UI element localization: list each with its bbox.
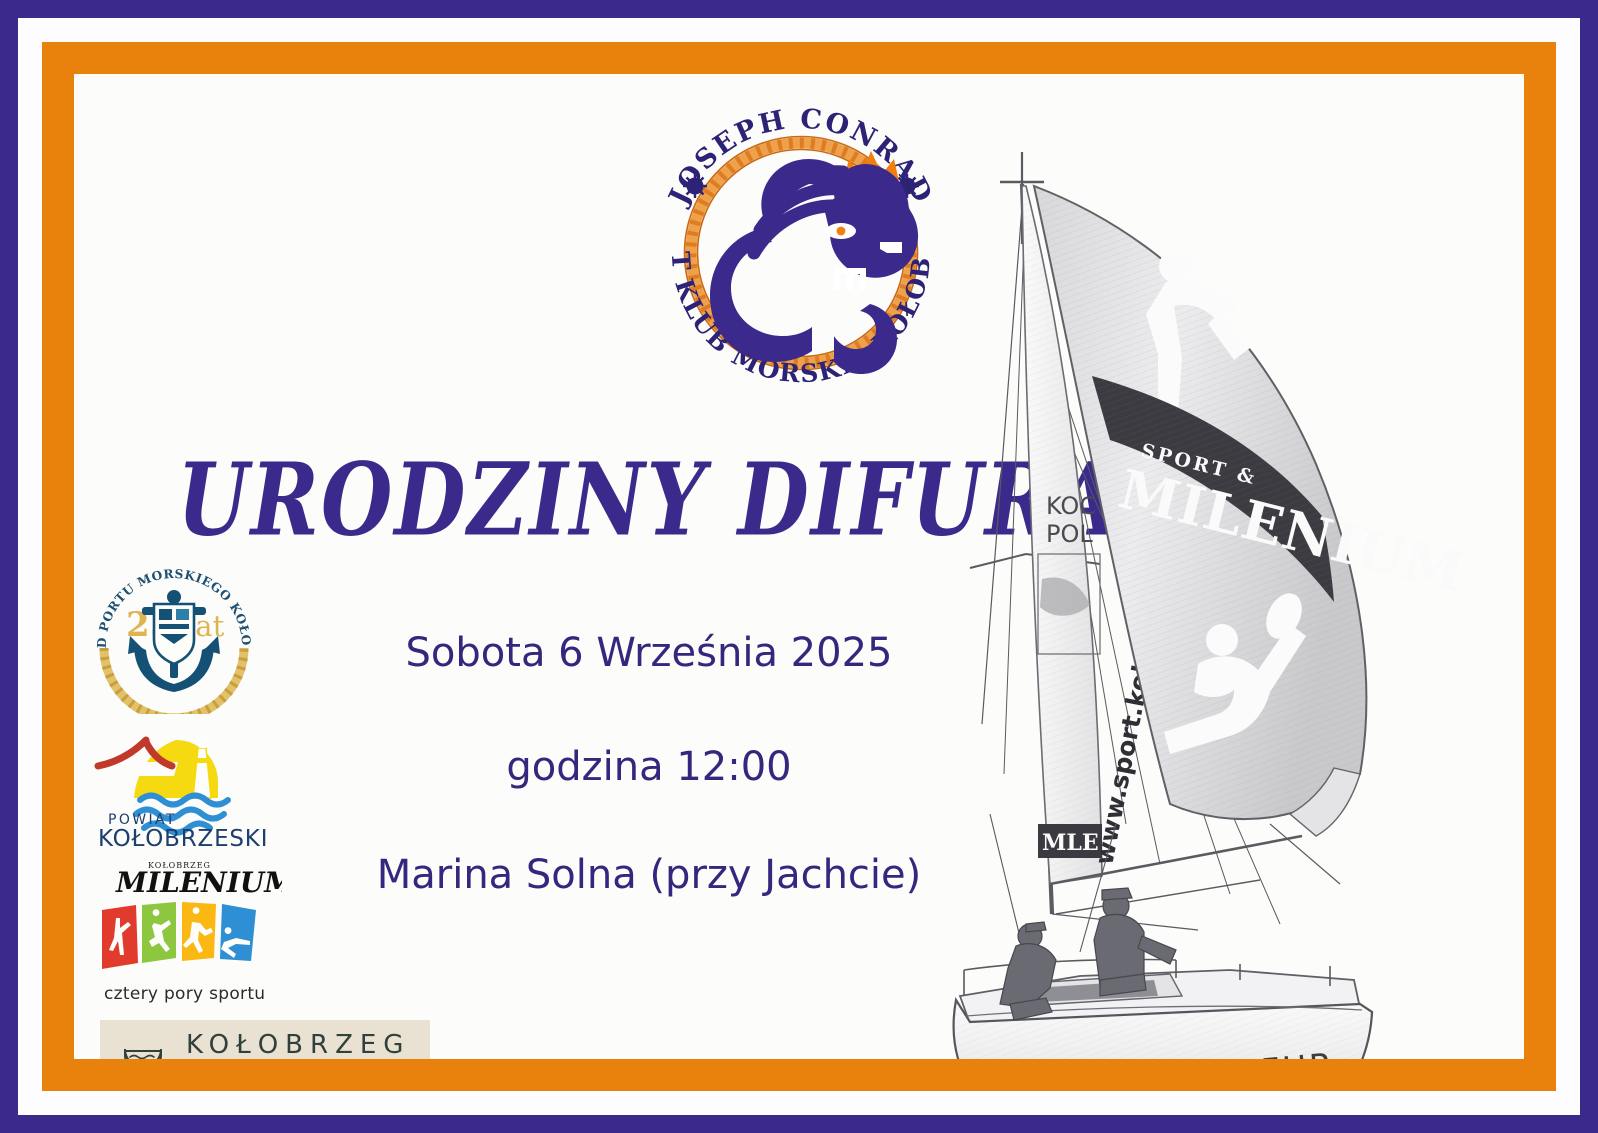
yacht-pencil-illustration: KOC POL MLE www.sport.kolobrzeg.pl [930, 124, 1524, 1059]
sponsor-zarzad-portu: ZARZĄD PORTU MORSKIEGO KOŁOBRZEG 25 lat [90, 562, 258, 714]
poster-frame-gap: JOSEPH CONRAD JACHT KLUB MORSKI · KOŁOBR… [18, 18, 1580, 1115]
club-emblem: JOSEPH CONRAD JACHT KLUB MORSKI · KOŁOBR… [638, 90, 964, 416]
milenium-wordmark: MILENIUM [115, 866, 282, 899]
sport-panels [102, 902, 256, 969]
mainsail-text-line1: KOC [1046, 492, 1096, 520]
sponsor-powiat-kolobrzeski: POWIAT KOŁOBRZESKI [90, 722, 280, 848]
regeneracja-wordmark: KOŁOBRZEG [186, 1032, 410, 1058]
wave-shield-icon [120, 1032, 166, 1059]
sponsor-kolobrzeg-regeneracja: KOŁOBRZEG RE:GENERACJA [100, 1020, 430, 1059]
poster-frame-orange: JOSEPH CONRAD JACHT KLUB MORSKI · KOŁOBR… [42, 42, 1556, 1091]
svg-text:MLE: MLE [1042, 830, 1099, 856]
city-crest-icon [154, 604, 194, 664]
poster-root: JOSEPH CONRAD JACHT KLUB MORSKI · KOŁOBR… [0, 0, 1598, 1133]
sponsor-logo-rail: ZARZĄD PORTU MORSKIEGO KOŁOBRZEG 25 lat [82, 562, 442, 1059]
poster-canvas: JOSEPH CONRAD JACHT KLUB MORSKI · KOŁOBR… [74, 74, 1524, 1059]
sponsor-milenium: KOŁOBRZEG MILENIUM [86, 854, 282, 982]
sponsor-powiat-line2: KOŁOBRZESKI [98, 826, 268, 848]
milenium-caption: cztery pory sportu [104, 984, 442, 1004]
mainsail-text-line2: POL [1046, 520, 1093, 548]
kolobrzeg-griffin-icon [710, 151, 918, 374]
